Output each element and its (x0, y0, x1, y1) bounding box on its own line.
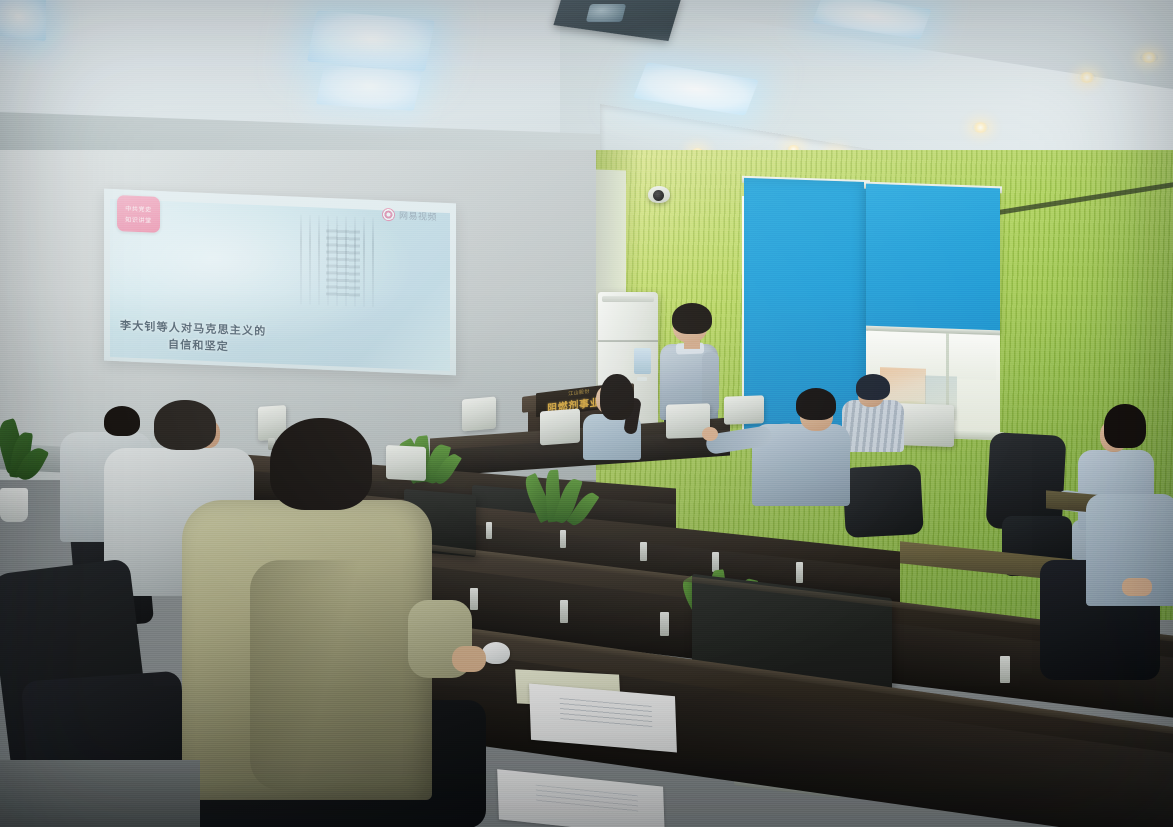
desk-divider-post-2 (486, 522, 492, 539)
attendee-bottom-right-hand (1122, 578, 1152, 596)
chair-right-2 (842, 464, 924, 538)
presenter-hair (672, 303, 712, 334)
ceiling-panel-light-3 (316, 65, 423, 111)
attendee-glasses-hair (796, 388, 836, 420)
ac-vent-icon (602, 296, 654, 302)
camera-lens-icon (653, 190, 664, 201)
attendee-left-1-hair (104, 406, 140, 436)
monitor-back-3 (540, 409, 580, 446)
downlight-icon-7 (1140, 52, 1158, 63)
computer-mouse-1 (482, 642, 510, 664)
desk-divider-post-4 (640, 542, 647, 561)
attendee-podium-hair (600, 374, 634, 420)
desk-divider-post-8 (560, 600, 568, 623)
attendee-glasses-hand (702, 427, 718, 441)
attendee-right-hair (1104, 404, 1146, 448)
badge-line-1: 中共党史 (125, 203, 151, 213)
right-roller-blind (866, 184, 1000, 335)
attendee-window-torso (842, 400, 904, 452)
attendee-front-left-fold-shading (250, 560, 390, 790)
projection-brand-badge: 中共党史 知识讲堂 (117, 195, 160, 233)
training-room-photo: 中共党史 知识讲堂 网易视频 李大钊等人对马克思主义的 自信和坚定 江山股份 阻… (0, 0, 1173, 827)
projected-subtitle-line-2: 自信和坚定 (168, 336, 229, 355)
plant-pot-left (0, 488, 28, 522)
attendee-left-2-hair (154, 400, 216, 450)
monitor-back-8 (386, 445, 426, 481)
netease-video-icon (382, 208, 395, 222)
ac-seam (598, 340, 658, 342)
desk-divider-post-6 (796, 562, 803, 583)
projector-lens-icon (586, 4, 626, 22)
watermark-label: 网易视频 (399, 209, 437, 224)
ac-display-panel (634, 348, 651, 374)
floor (0, 760, 200, 827)
downlight-icon-6 (1078, 72, 1096, 83)
downlight-icon-5 (972, 122, 989, 133)
video-watermark: 网易视频 (382, 208, 437, 223)
ceiling-panel-light-1 (0, 0, 46, 41)
attendee-window-hair (856, 374, 890, 400)
desk-divider-post-9 (660, 612, 669, 636)
desk-divider-post-12 (1000, 656, 1010, 683)
attendee-front-left-hair (270, 418, 372, 510)
desk-divider-post-7 (470, 588, 478, 610)
monitor-back-5 (724, 395, 764, 424)
ac-led-indicator (637, 377, 647, 381)
badge-line-2: 知识讲堂 (125, 214, 151, 224)
projection-glare (110, 199, 450, 371)
ceiling-panel-light-2 (307, 10, 435, 71)
desk-divider-post-3 (560, 530, 566, 548)
attendee-front-left-hand (452, 646, 486, 672)
monitor-back-2 (462, 397, 496, 432)
